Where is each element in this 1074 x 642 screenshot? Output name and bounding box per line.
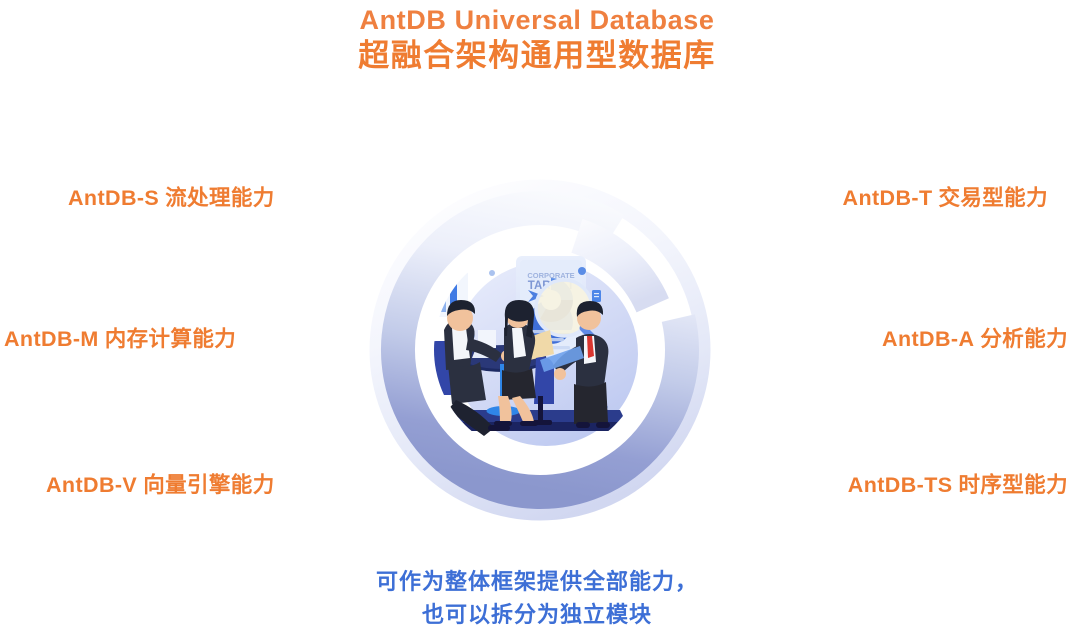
- capability-code: AntDB-V: [46, 473, 137, 497]
- capability-name: 向量引擎能力: [143, 473, 274, 497]
- bottom-caption: 可作为整体框架提供全部能力， 也可以拆分为独立模块: [0, 565, 1074, 631]
- page-title-chinese: 超融合架构通用型数据库: [0, 36, 1074, 76]
- capability-code: AntDB-T: [843, 186, 933, 210]
- caption-line-2: 也可以拆分为独立模块: [0, 598, 1074, 631]
- title-block: AntDB Universal Database 超融合架构通用型数据库: [0, 0, 1074, 76]
- capability-label-antdb-ts[interactable]: AntDB-TS时序型能力: [848, 471, 1068, 499]
- capability-code: AntDB-A: [882, 327, 974, 351]
- capability-name: 流处理能力: [165, 186, 275, 210]
- capability-label-antdb-m[interactable]: AntDB-M内存计算能力: [4, 325, 236, 353]
- capability-code: AntDB-M: [4, 327, 99, 351]
- caption-line-1: 可作为整体框架提供全部能力，: [0, 565, 1074, 598]
- capability-name: 交易型能力: [938, 186, 1048, 210]
- capability-label-antdb-t[interactable]: AntDB-T交易型能力: [843, 184, 1048, 212]
- capability-label-antdb-a[interactable]: AntDB-A分析能力: [882, 325, 1068, 353]
- capability-code: AntDB-TS: [848, 473, 953, 497]
- capability-label-antdb-v[interactable]: AntDB-V向量引擎能力: [46, 471, 275, 499]
- capability-code: AntDB-S: [68, 186, 159, 210]
- central-ring-illustration: CORPORATE TARGET: [368, 178, 712, 522]
- capability-label-antdb-s[interactable]: AntDB-S流处理能力: [68, 184, 275, 212]
- capability-name: 内存计算能力: [105, 327, 236, 351]
- page-title-english: AntDB Universal Database: [0, 4, 1074, 36]
- capability-name: 分析能力: [980, 327, 1068, 351]
- capability-name: 时序型能力: [958, 473, 1068, 497]
